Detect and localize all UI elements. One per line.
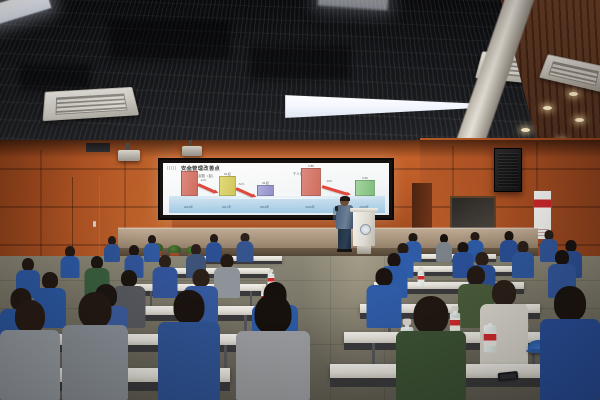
- bottle-cap: [419, 267, 423, 270]
- bottle-label: [484, 331, 497, 345]
- decline-arrow-1-label: -24%: [200, 179, 206, 182]
- bottle-cap: [269, 269, 273, 272]
- person-head: [492, 280, 516, 306]
- person-torso: [512, 252, 534, 278]
- bar-category-g1-0: 2016年: [184, 205, 193, 209]
- downlight-2: [543, 106, 552, 110]
- presenter-hair: [340, 196, 350, 201]
- projector-right: [182, 146, 202, 156]
- decline-arrow-2-label: -52%: [238, 183, 244, 186]
- audience-member: [540, 286, 600, 400]
- person-torso: [0, 330, 60, 400]
- bar-value-g1-2: 30 起: [262, 181, 269, 185]
- podium-top: [350, 208, 378, 212]
- bar-g1-2: 30 起: [257, 185, 274, 196]
- person-head: [221, 254, 234, 268]
- person-torso: [540, 319, 600, 400]
- person-torso: [62, 325, 128, 400]
- downlight-3: [575, 118, 584, 122]
- door-handle-icon: [93, 221, 96, 227]
- water-bottle: [484, 317, 497, 353]
- bar-value-g2-0: 0.88: [308, 164, 313, 168]
- presenter-legs: [338, 228, 351, 250]
- podium-body: [353, 212, 375, 246]
- bar-g1-0: 82 起: [181, 171, 198, 196]
- person-head: [375, 268, 392, 286]
- person-head: [475, 252, 488, 266]
- person-head: [255, 294, 292, 334]
- person-torso: [158, 322, 220, 400]
- bottle-cap: [486, 317, 494, 322]
- bar-g2-1: 0.46: [355, 180, 375, 196]
- person-head: [79, 292, 112, 328]
- bar-value-g1-0: 82 起: [186, 167, 193, 171]
- person-torso: [436, 242, 452, 262]
- bottle-neck: [269, 272, 272, 274]
- audience-member: [62, 292, 128, 400]
- podium: [352, 208, 376, 254]
- ceiling-panel-dark-2: [250, 46, 350, 80]
- ceiling: [0, 0, 600, 152]
- bar-category-g1-1: 2017年: [222, 205, 231, 209]
- person-torso: [236, 331, 310, 400]
- bar-category-g2-0: 2016年: [305, 205, 314, 209]
- wall-vseam-1: [40, 150, 42, 258]
- slide-logo-icon: [167, 166, 177, 170]
- slide-title: 安全管理改善点: [181, 165, 381, 172]
- person-head: [414, 296, 449, 334]
- microphone-icon: [335, 206, 338, 211]
- ceiling-panel-dark-1: [110, 20, 230, 60]
- bar-g1-1: 62 起: [219, 176, 236, 196]
- water-bottle: [418, 267, 425, 286]
- person-head: [193, 269, 210, 287]
- bottle-neck: [419, 270, 422, 272]
- wall-speaker: [494, 148, 522, 192]
- audience-member: [512, 241, 534, 278]
- bar-category-g1-2: 2018年: [260, 205, 269, 209]
- audience-member: [158, 290, 220, 400]
- person-head: [554, 286, 586, 321]
- bar-value-g1-1: 62 起: [224, 172, 231, 176]
- downlight-4: [521, 128, 530, 132]
- person-torso: [396, 331, 466, 400]
- person-head: [42, 272, 58, 289]
- podium-emblem-icon: [360, 224, 371, 235]
- audience-member: [396, 296, 466, 400]
- presenter-shoes: [337, 249, 352, 252]
- downlight-1: [569, 92, 578, 96]
- bar-g2-0: 0.88: [301, 168, 321, 196]
- person-head: [387, 253, 400, 267]
- ceiling-panel-dark-3: [20, 64, 90, 90]
- back-wall-door-left[interactable]: [72, 177, 100, 255]
- audience-member: [436, 234, 452, 262]
- ceiling-ac-cassette-left: [42, 87, 139, 121]
- podium-base: [357, 246, 371, 254]
- ac-vent-icon: [55, 94, 128, 115]
- bottle-neck: [487, 322, 493, 327]
- audience-member: [236, 294, 310, 400]
- bar-value-g2-1: 0.46: [362, 176, 367, 180]
- projector-left: [118, 150, 140, 161]
- wall-speaker-left: [86, 143, 110, 152]
- decline-arrow-3-label: -48%: [326, 180, 332, 183]
- stage-edge: [118, 227, 538, 229]
- person-head: [15, 300, 45, 333]
- person-head: [174, 290, 205, 324]
- person-head: [555, 250, 569, 265]
- conference-hall-photo: 安全管理改善点 工伤事故起数（起） 千人负伤率（‰） 82 起 2016年 62…: [0, 0, 600, 400]
- audience-member: [0, 300, 60, 400]
- bottle-label: [418, 275, 425, 282]
